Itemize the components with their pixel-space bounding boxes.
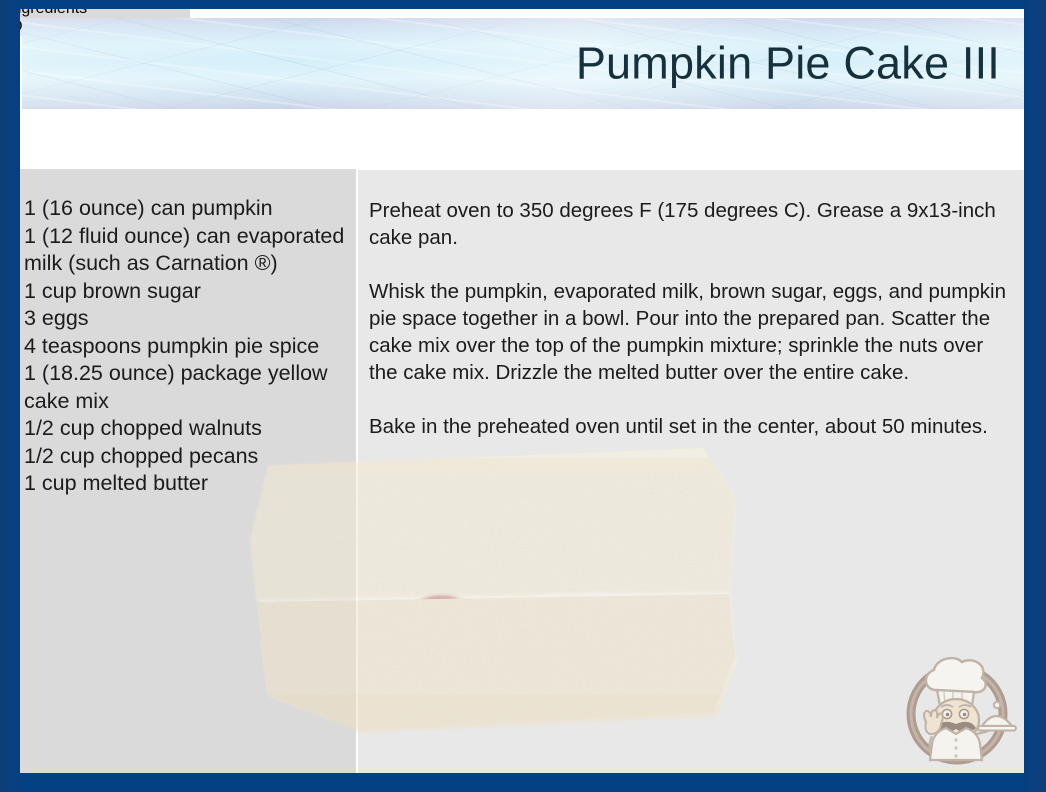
list-item: 1 cup melted butter	[24, 470, 352, 498]
page-title: Pumpkin Pie Cake III	[576, 39, 1000, 86]
list-item: 4 teaspoons pumpkin pie spice	[24, 333, 352, 361]
recipe-header-banner: Pumpkin Pie Cake III	[22, 18, 1024, 109]
ingredients-list: 1 (16 ounce) can pumpkin 1 (12 fluid oun…	[24, 195, 352, 498]
card-border-right	[1024, 0, 1046, 792]
card-border-bottom	[0, 773, 1046, 792]
ingredients-panel: 1 (16 ounce) can pumpkin 1 (12 fluid oun…	[20, 169, 356, 773]
direction-step: Bake in the preheated oven until set in …	[369, 413, 1017, 440]
recipe-card: Pumpkin Pie Cake III Ingredients 1 (16 o…	[0, 0, 1046, 792]
card-border-top	[0, 0, 1046, 9]
list-item: 1/2 cup chopped walnuts	[24, 415, 352, 443]
directions-body: Preheat oven to 350 degrees F (175 degre…	[369, 197, 1017, 440]
directions-panel: Preheat oven to 350 degrees F (175 degre…	[358, 170, 1024, 773]
direction-step: Whisk the pumpkin, evaporated milk, brow…	[369, 278, 1017, 386]
list-item: 1 (12 fluid ounce) can evaporated milk (…	[24, 223, 352, 278]
direction-step: Preheat oven to 350 degrees F (175 degre…	[369, 197, 1017, 251]
list-item: 1 cup brown sugar	[24, 278, 352, 306]
list-item: 3 eggs	[24, 305, 352, 333]
list-item: 1 (18.25 ounce) package yellow cake mix	[24, 360, 352, 415]
list-item: 1/2 cup chopped pecans	[24, 443, 352, 471]
card-border-left	[0, 0, 20, 792]
list-item: 1 (16 ounce) can pumpkin	[24, 195, 352, 223]
